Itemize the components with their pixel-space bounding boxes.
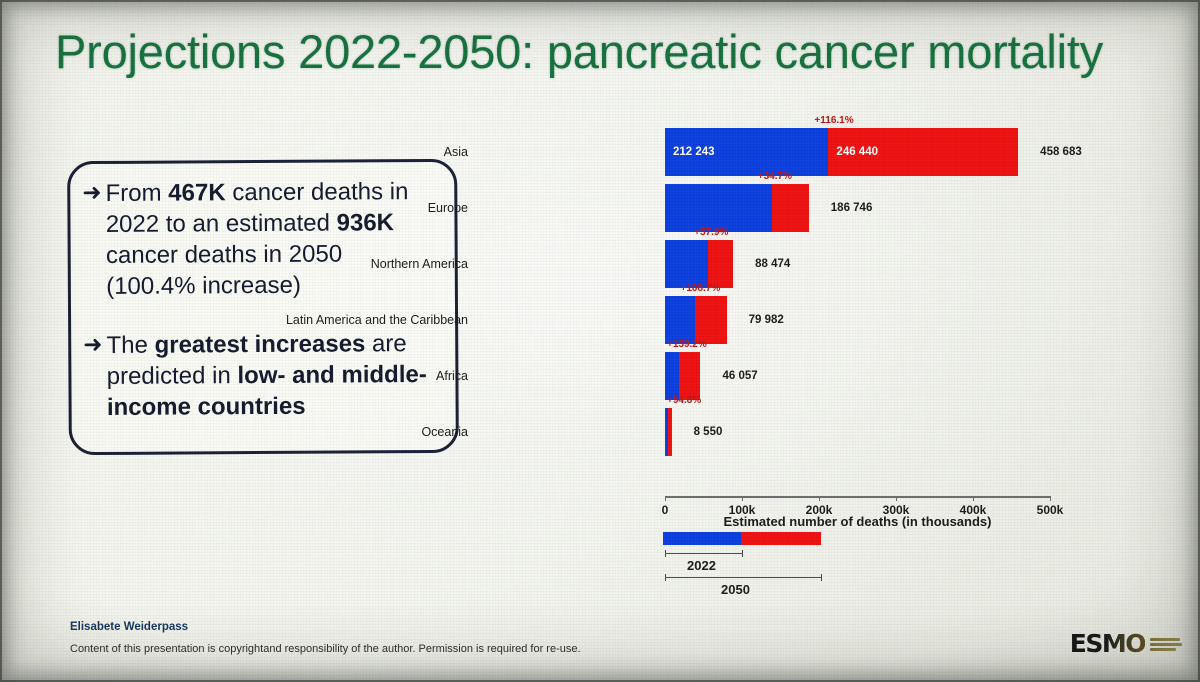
percent-change-label: +94.8%: [667, 395, 701, 406]
bar-category-label: Northern America: [371, 257, 468, 271]
legend-bracket-2050: [665, 574, 822, 581]
bar-value-label-2022: 212 243: [673, 146, 715, 158]
bar-total-label: 88 474: [755, 258, 790, 270]
legend-label-2050: 2050: [721, 582, 750, 597]
bar-total-label: 8 550: [694, 426, 723, 438]
bar-total-label: 186 746: [831, 202, 873, 214]
percent-change-label: +57.9%: [694, 227, 728, 238]
chart-bar-row: Oceania+94.8%8 550: [470, 408, 1090, 456]
legend-bar: [663, 532, 821, 545]
esmo-tagline-icon: [1150, 636, 1182, 651]
chart-bar-row: Latin America and the Caribbean+108.7%79…: [470, 296, 1090, 344]
bar-category-label: Africa: [436, 369, 468, 383]
chart-bar-row: Northern America+57.9%88 474: [470, 240, 1090, 288]
bullet-2-text: The greatest increases are predicted in …: [106, 328, 437, 423]
copyright-notice: Content of this presentation is copyrigh…: [70, 643, 581, 655]
bar-segment-2050-increment: [708, 240, 733, 288]
legend-bracket-2022: [665, 550, 743, 557]
bar-segment-2022: [665, 184, 772, 232]
bar-segment-2022: [665, 352, 679, 400]
bar-segment-2050-increment: [668, 408, 671, 456]
axis-tick: [665, 496, 666, 501]
bar-segment-2050-increment: [772, 184, 809, 232]
stacked-bar: +108.7%: [665, 296, 727, 344]
bar-category-label: Oceania: [421, 425, 468, 439]
percent-change-label: +116.1%: [814, 115, 853, 126]
arrow-icon: ➜: [82, 178, 101, 209]
legend-label-2022: 2022: [687, 558, 716, 573]
percent-change-label: +159.2%: [667, 339, 707, 350]
stacked-bar: +159.2%: [665, 352, 700, 400]
bar-total-label: 46 057: [722, 370, 757, 382]
esmo-wordmark: ESMO: [1070, 631, 1145, 656]
bar-segment-2050-increment: [695, 296, 727, 344]
page-title: Projections 2022-2050: pancreatic cancer…: [55, 27, 1145, 76]
axis-tick: [973, 496, 974, 501]
author-name: Elisabete Weiderpass: [70, 621, 188, 633]
bar-category-label: Latin America and the Caribbean: [286, 313, 468, 327]
esmo-logo: ESMO: [1070, 628, 1182, 658]
percent-change-label: +34.7%: [758, 171, 792, 182]
chart-bar-row: Africa+159.2%46 057: [470, 352, 1090, 400]
bar-segment-2022: [665, 240, 708, 288]
bar-category-label: Europe: [428, 201, 468, 215]
percent-change-label: +108.7%: [681, 283, 721, 294]
bullet-item-1: ➜ From 467K cancer deaths in 2022 to an …: [82, 176, 437, 302]
chart-bar-row: Asia212 243246 440+116.1%458 683: [470, 128, 1090, 176]
stacked-bar: +94.8%: [665, 408, 672, 456]
bullet-item-2: ➜ The greatest increases are predicted i…: [83, 328, 438, 423]
presentation-slide: Projections 2022-2050: pancreatic cancer…: [0, 0, 1200, 682]
bar-segment-2022: 212 243: [665, 128, 828, 176]
x-axis-label: Estimated number of deaths (in thousands…: [665, 514, 1050, 529]
stacked-bar: +34.7%: [665, 184, 809, 232]
stacked-bar: 212 243246 440+116.1%: [665, 128, 1018, 176]
x-axis: [665, 496, 1050, 498]
bar-total-label: 79 982: [749, 314, 784, 326]
bar-total-label: 458 683: [1040, 146, 1082, 158]
mortality-projection-bar-chart: Asia212 243246 440+116.1%458 683Europe+3…: [470, 118, 1090, 538]
key-points-callout-box: ➜ From 467K cancer deaths in 2022 to an …: [67, 159, 459, 455]
legend-swatch-2022: [663, 532, 741, 545]
stacked-bar: +57.9%: [665, 240, 733, 288]
bar-value-label-2050: 246 440: [836, 146, 878, 158]
chart-legend: 2022 2050: [663, 532, 883, 594]
legend-swatch-2050: [741, 532, 821, 545]
bullet-1-text: From 467K cancer deaths in 2022 to an es…: [105, 176, 436, 302]
axis-tick: [896, 496, 897, 501]
axis-tick: [819, 496, 820, 501]
bar-segment-2022: [665, 296, 695, 344]
bar-category-label: Asia: [444, 145, 468, 159]
axis-tick: [742, 496, 743, 501]
bar-segment-2050-increment: [679, 352, 701, 400]
arrow-icon: ➜: [83, 330, 102, 361]
bar-segment-2050-increment: 246 440: [828, 128, 1018, 176]
axis-tick: [1050, 496, 1051, 501]
chart-bar-row: Europe+34.7%186 746: [470, 184, 1090, 232]
